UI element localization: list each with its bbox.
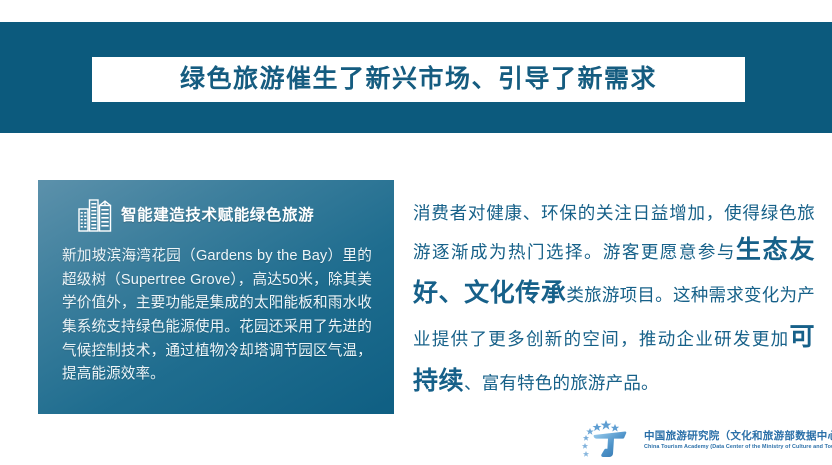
card-heading-row: 智能建造技术赋能绿色旅游 xyxy=(56,196,376,232)
title-box: 绿色旅游催生了新兴市场、引导了新需求 xyxy=(92,57,745,102)
page-title: 绿色旅游催生了新兴市场、引导了新需求 xyxy=(180,67,657,92)
organization-name-en: China Tourism Academy (Data Center of th… xyxy=(644,444,832,450)
card-heading-label: 智能建造技术赋能绿色旅游 xyxy=(121,203,314,225)
footer-logo: 中国旅游研究院（文化和旅游部数据中心） China Tourism Academ… xyxy=(581,418,826,460)
organization-name-cn: 中国旅游研究院（文化和旅游部数据中心） xyxy=(644,428,832,443)
right-paragraph: 消费者对健康、环保的关注日益增加，使得绿色旅游逐渐成为热门选择。游客更愿意参与生… xyxy=(413,198,815,404)
left-info-card: 智能建造技术赋能绿色旅游 新加坡滨海湾花园（Gardens by the Bay… xyxy=(38,180,394,414)
right-text-column: 消费者对健康、环保的关注日益增加，使得绿色旅游逐渐成为热门选择。游客更愿意参与生… xyxy=(413,198,815,404)
card-body-text: 新加坡滨海湾花园（Gardens by the Bay）里的超级树（Supert… xyxy=(56,245,376,387)
right-text-seg-3: 、富有特色的旅游产品。 xyxy=(464,373,659,393)
china-tourism-academy-t-logo xyxy=(581,418,637,460)
logo-wordmark: 中国旅游研究院（文化和旅游部数据中心） China Tourism Academ… xyxy=(644,428,832,450)
building-skyline-icon xyxy=(78,196,112,232)
slide-root: 绿色旅游催生了新兴市场、引导了新需求 xyxy=(0,0,832,465)
